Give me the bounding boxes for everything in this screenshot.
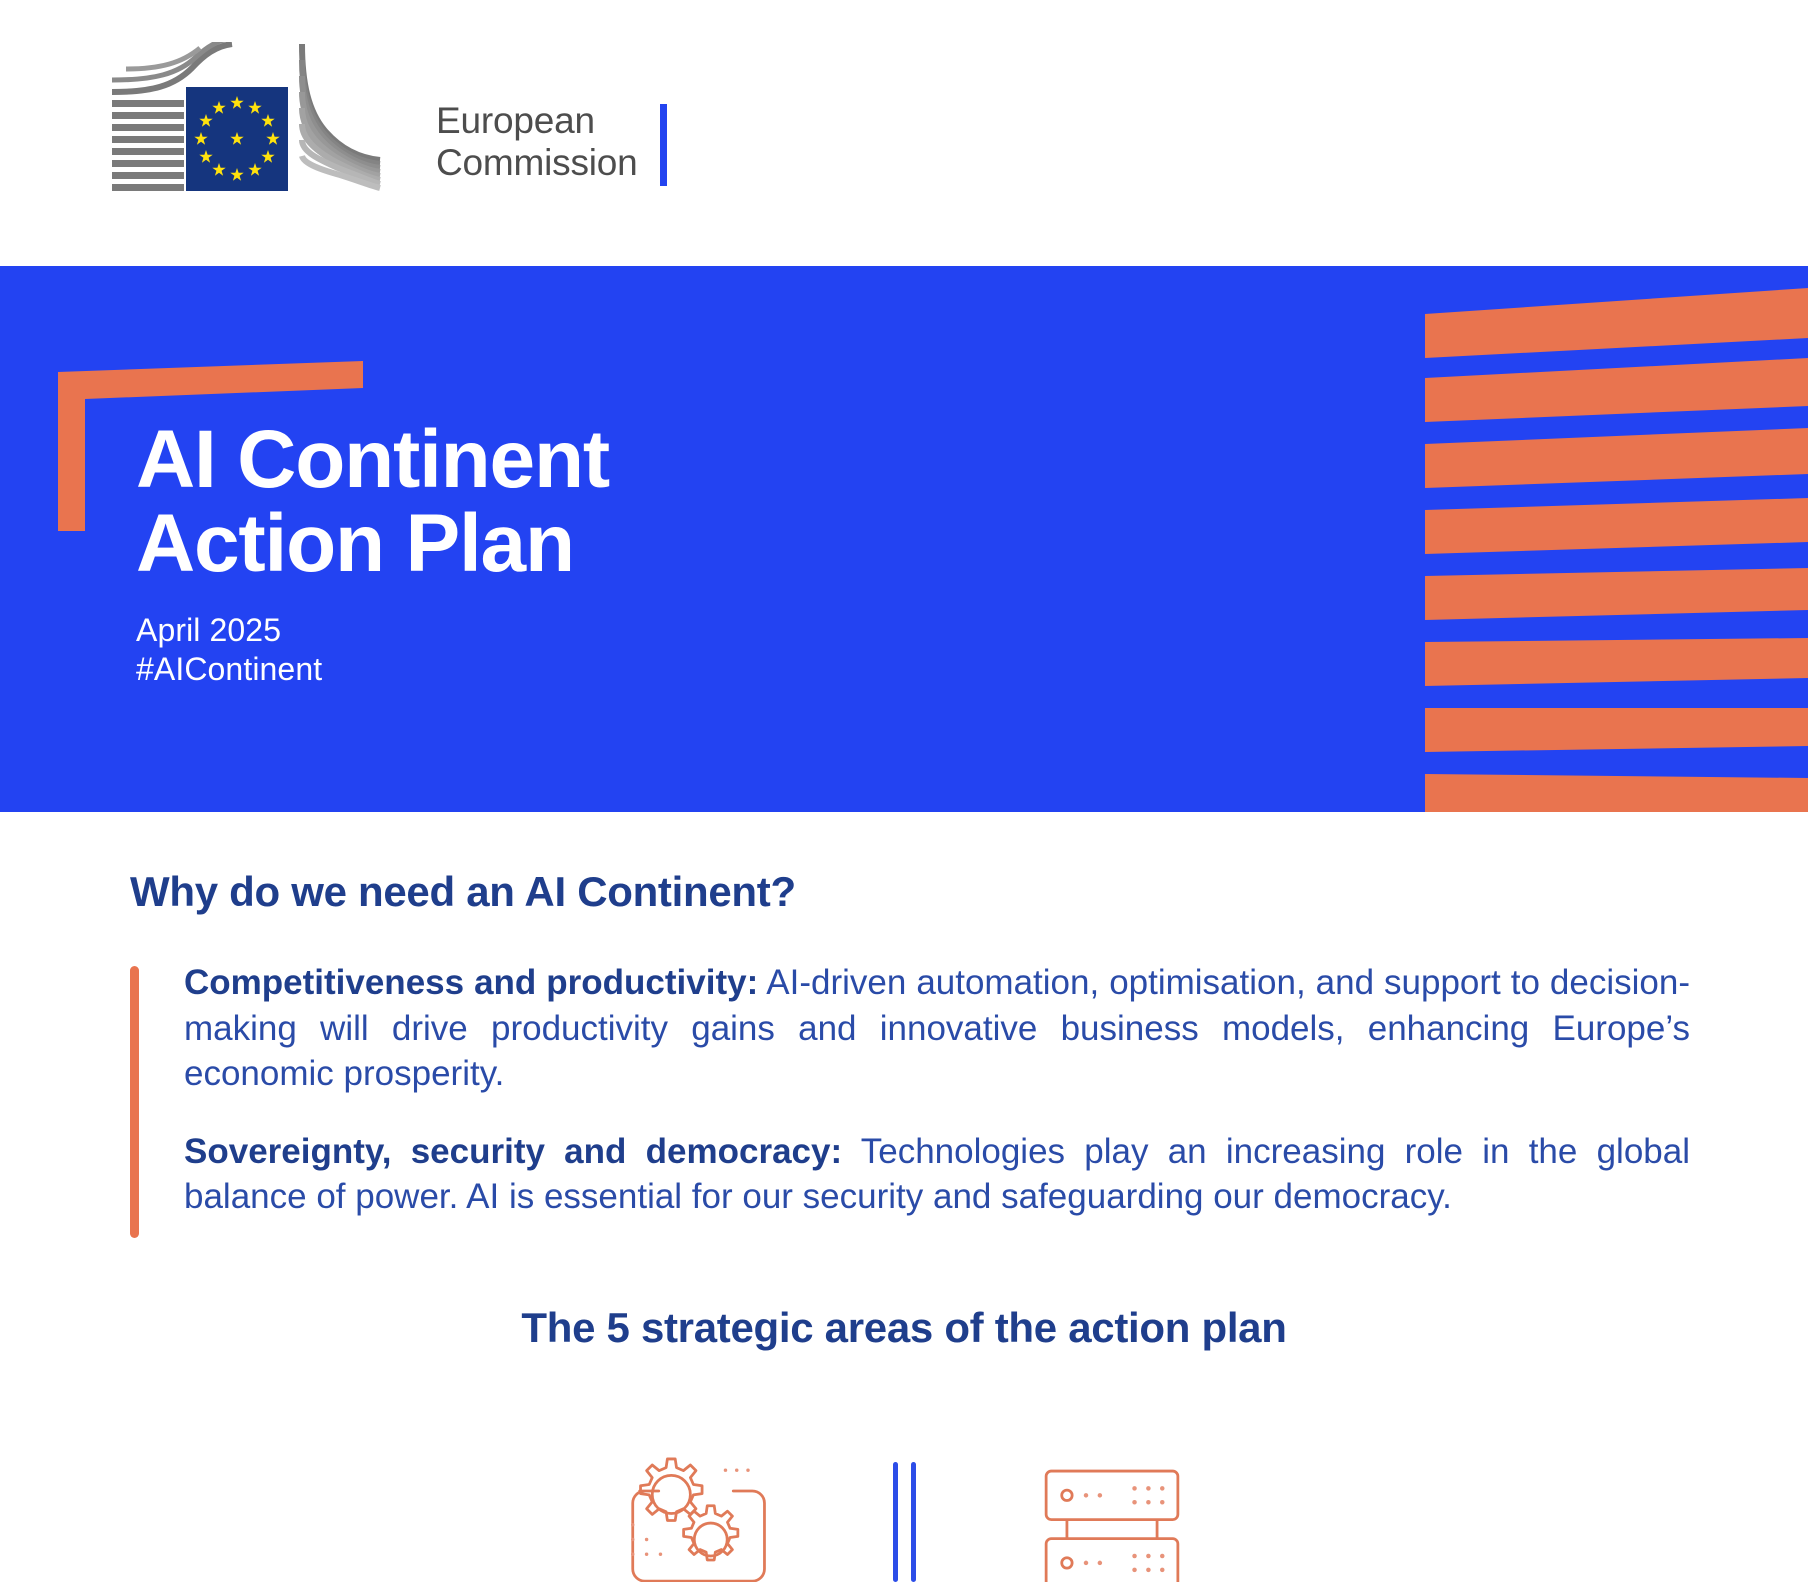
section-divider [846,1452,962,1576]
rationale-item-lead: Sovereignty, security and democracy: [184,1132,842,1171]
strategic-area-item [546,1452,846,1587]
rationale-item: Sovereignty, security and democracy: Tec… [184,1129,1690,1220]
gears-icon [591,1452,801,1587]
rationale-item-lead: Competitiveness and productivity: [184,963,758,1002]
section-heading-why: Why do we need an AI Continent? [130,868,796,916]
ec-logo-header: European Commission [0,0,1808,266]
rationale-accent-rule [130,966,139,1238]
rationale-item: Competitiveness and productivity: AI-dri… [184,960,1690,1097]
divider-line [911,1462,916,1582]
ec-logo-wordmark: European Commission [436,100,638,184]
hero-meta: April 2025 #AIContinent [136,611,322,689]
ec-logo-accent-bar [660,104,667,186]
european-commission-logo: European Commission [112,42,667,199]
divider-line [893,1462,898,1582]
hero-banner: AI Continent Action Plan April 2025 #AIC… [0,266,1808,812]
server-rack-icon [1032,1452,1192,1587]
diagonal-stripes-decoration [1368,266,1808,812]
rationale-list: Competitiveness and productivity: AI-dri… [130,960,1690,1220]
strategic-area-item [962,1452,1262,1587]
document-page: European Commission [0,0,1808,1594]
european-commission-flag-logo [112,42,422,199]
page-title: AI Continent Action Plan [136,418,609,585]
strategic-areas-icon-row [0,1452,1808,1594]
main-content: Why do we need an AI Continent? Competit… [0,812,1808,1594]
section-heading-areas: The 5 strategic areas of the action plan [0,1304,1808,1352]
